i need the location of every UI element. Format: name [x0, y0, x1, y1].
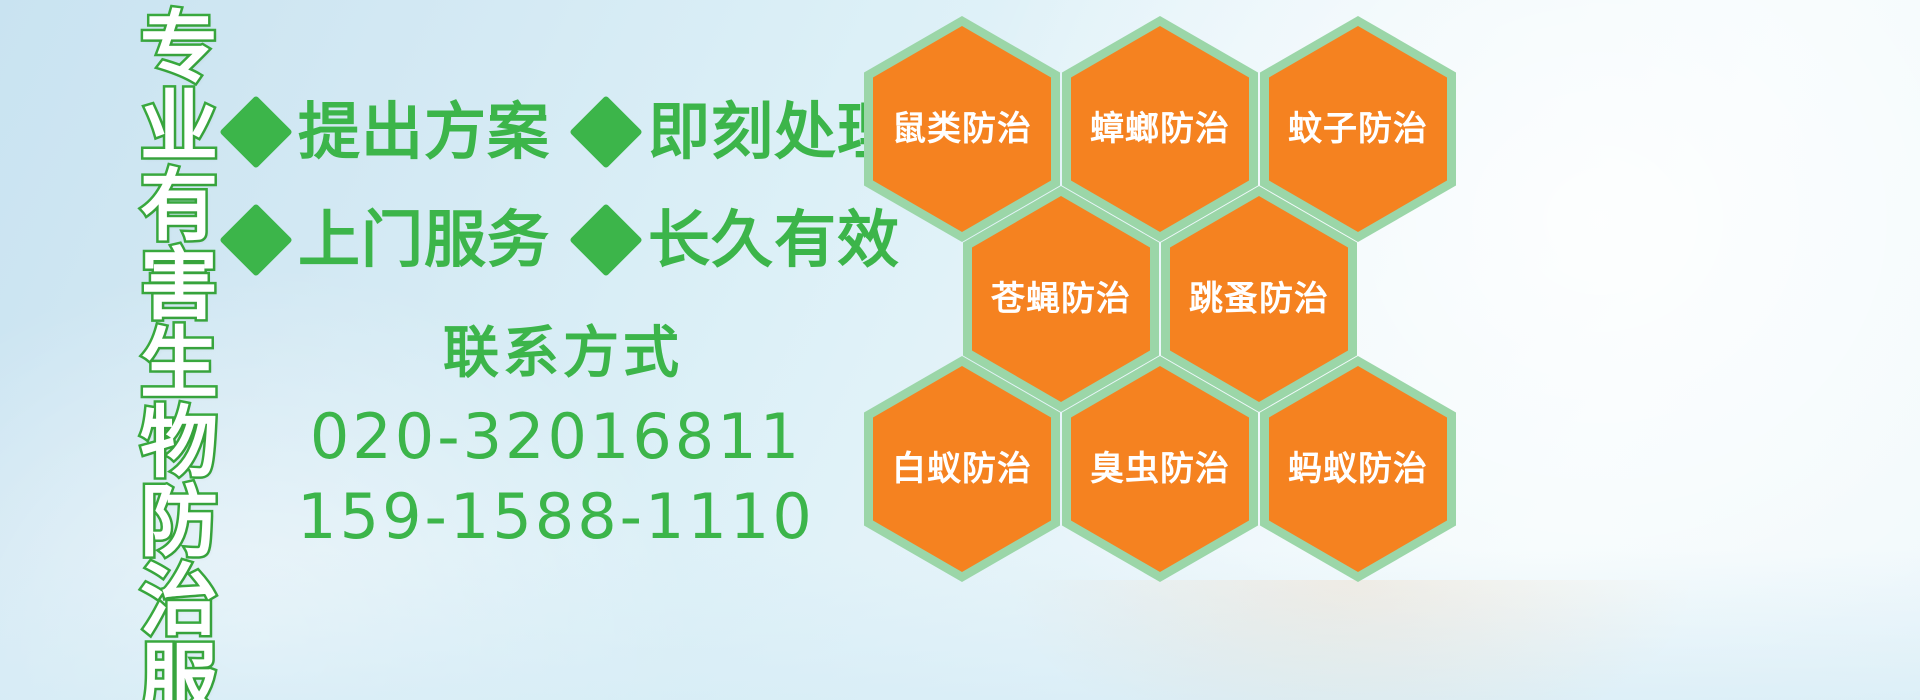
contact-heading: 联系方式 — [266, 322, 860, 386]
diamond-icon — [219, 203, 293, 277]
pest-control-banner: 专业有害生物防治服务 提出方案 即刻处理 上门服务 长久有效 联 — [0, 0, 1920, 700]
service-label: 蚊子防治 — [1288, 112, 1428, 146]
feature-item-immediate-action: 即刻处理 — [580, 101, 900, 163]
service-label: 蟑螂防治 — [1090, 112, 1230, 146]
vertical-headline: 专业有害生物防治服务 — [104, 6, 212, 700]
service-honeycomb-grid: 鼠类防治 蟑螂防治 蚊子防治 苍蝇防治 跳蚤防治 白蚁防治 臭虫防治 — [862, 8, 1462, 568]
service-label: 鼠类防治 — [892, 112, 1032, 146]
feature-list: 提出方案 即刻处理 上门服务 长久有效 — [230, 78, 870, 294]
service-label: 苍蝇防治 — [991, 282, 1131, 316]
feature-row: 上门服务 长久有效 — [230, 186, 870, 294]
feature-row: 提出方案 即刻处理 — [230, 78, 870, 186]
feature-item-long-lasting: 长久有效 — [580, 209, 900, 271]
service-label: 白蚁防治 — [892, 452, 1032, 486]
feature-item-onsite-service: 上门服务 — [230, 209, 550, 271]
feature-item-propose-plan: 提出方案 — [230, 101, 550, 163]
service-label: 蚂蚁防治 — [1288, 452, 1428, 486]
contact-phone-landline[interactable]: 020-32016811 — [252, 398, 860, 476]
diamond-icon — [569, 203, 643, 277]
service-label: 跳蚤防治 — [1189, 282, 1329, 316]
diamond-icon — [219, 95, 293, 169]
feature-label: 提出方案 — [298, 101, 550, 163]
contact-phone-mobile[interactable]: 159-1588-1110 — [252, 478, 860, 556]
diamond-icon — [569, 95, 643, 169]
contact-block: 联系方式 020-32016811 159-1588-1110 — [230, 322, 860, 555]
feature-label: 上门服务 — [298, 209, 550, 271]
service-label: 臭虫防治 — [1090, 452, 1230, 486]
